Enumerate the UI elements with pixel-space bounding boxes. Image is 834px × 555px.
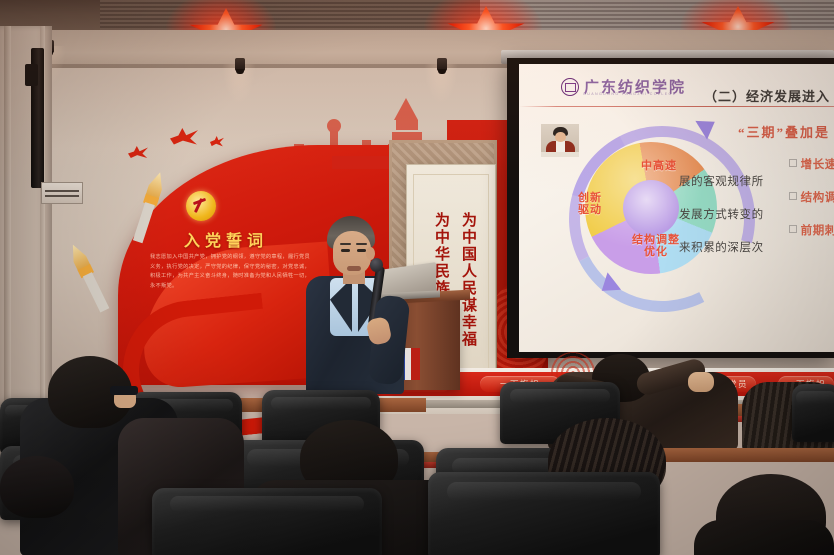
- speaker-mouth: [347, 266, 361, 271]
- bullet-head-1: 增长速度: [679, 156, 834, 172]
- slide-divider-rule: [519, 106, 834, 107]
- bullet-square-icon-2: [789, 192, 797, 200]
- leader-portrait-thumbnail: [541, 124, 579, 157]
- bullet-body-1: 展的客观规律所: [679, 173, 834, 189]
- oath-title: 入党誓词: [167, 227, 285, 251]
- attendee-mid-right-hand: [688, 372, 714, 392]
- bullet-square-icon-3: [789, 225, 797, 233]
- wall-speaker-bracket: [25, 64, 38, 86]
- speaker-eye-left: [341, 249, 350, 252]
- attendee-front-left-glasses: [110, 386, 138, 395]
- party-emblem-hammer-sickle: [186, 191, 216, 221]
- projection-screen: 广东纺织学院 GUANGDONG FANGZHI COLLEGE （二）经济发展…: [519, 64, 834, 352]
- slide-subheading: “三期”叠加是: [738, 122, 830, 141]
- left-wall-trim: [4, 26, 11, 406]
- conference-chair-f1[interactable]: [428, 472, 660, 555]
- donut-label-3: 创新驱动: [573, 192, 607, 216]
- college-logo-subtext: GUANGDONG FANGZHI COLLEGE: [583, 92, 677, 96]
- conference-chair-f2[interactable]: [152, 488, 382, 555]
- bullet-square-icon-1: [789, 159, 797, 167]
- slide-bullet-list: 增长速度 展的客观规律所 结构调整 发展方式转变的 前期刺激 来积累的深层次: [679, 156, 834, 255]
- conference-chair-b4[interactable]: [792, 384, 834, 442]
- conference-room-photo: 入党誓词 我志愿加入中国共产党，拥护党的纲领，遵守党的章程，履行党员义务，执行党…: [0, 0, 834, 555]
- oath-body-text: 我志愿加入中国共产党，拥护党的纲领，遵守党的章程，履行党员义务，执行党的决定，严…: [150, 253, 310, 291]
- presentation-slide: 广东纺织学院 GUANGDONG FANGZHI COLLEGE （二）经济发展…: [519, 64, 834, 352]
- bullet-body-2: 发展方式转变的: [679, 206, 834, 222]
- wall-sign-plate: [41, 182, 83, 204]
- attendee-back-left-head: [0, 456, 74, 518]
- college-seal-icon: [561, 78, 579, 96]
- bullet-head-3: 前期刺激: [679, 222, 834, 238]
- bullet-head-2: 结构调整: [679, 189, 834, 205]
- bullet-body-3: 来积累的深层次: [679, 239, 834, 255]
- speaker-eye-right: [357, 249, 366, 252]
- slide-heading: （二）经济发展进入: [704, 86, 830, 105]
- attendee-back-right-body: [694, 520, 834, 555]
- donut-center: [623, 180, 679, 236]
- donut-label-2: 结构调整优化: [627, 234, 685, 258]
